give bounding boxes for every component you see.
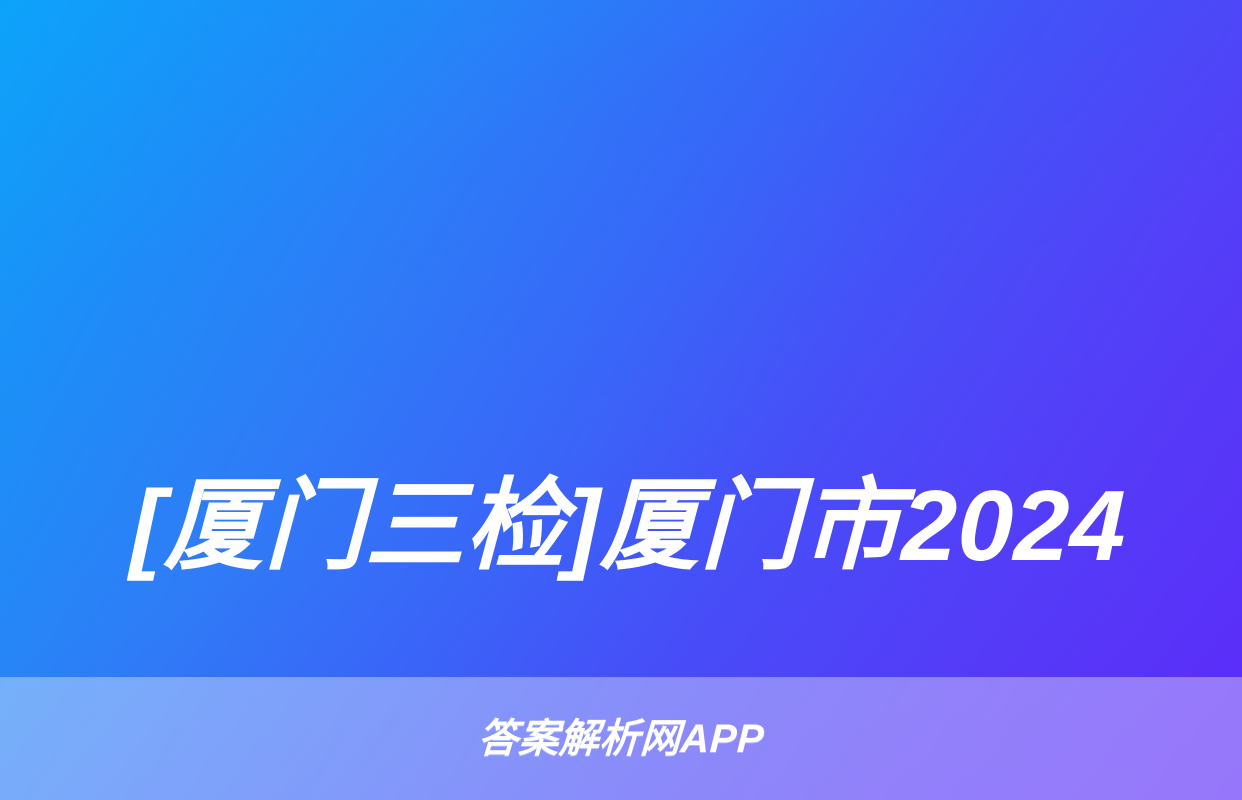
watermark-label: 答案解析网APP (477, 717, 766, 761)
footer-band: 答案解析网APP (0, 677, 1242, 800)
poster-card: [厦门三检]厦门市2024 届高中毕业班第三次质量 检测生物试题 答案解析网AP… (0, 0, 1242, 800)
watermark: 答案解析网APP (0, 677, 1242, 800)
page-title-line-1: [厦门三检]厦门市2024 (58, 458, 1198, 594)
